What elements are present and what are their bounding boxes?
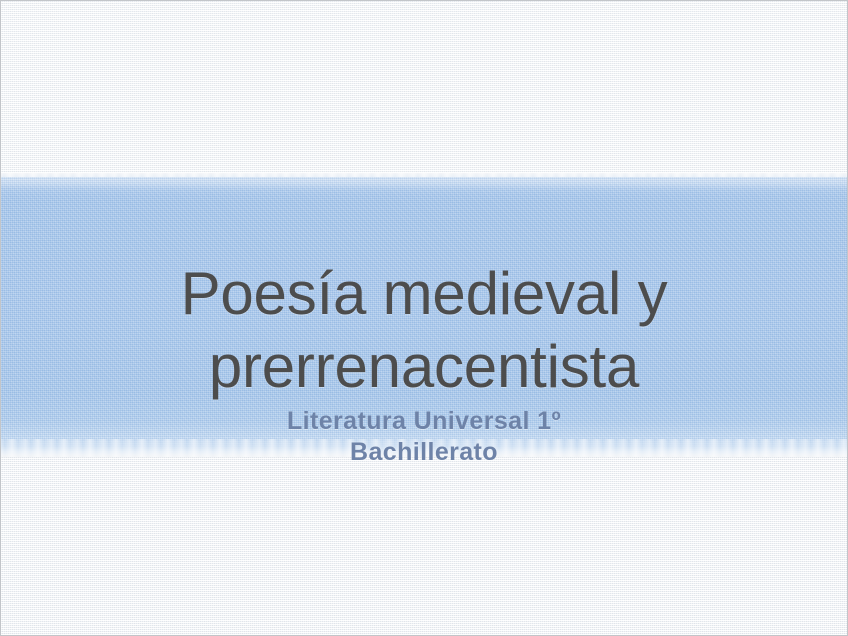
decorative-blue-band: [0, 177, 848, 454]
presentation-slide: Poesía medieval y prerrenacentista Liter…: [0, 0, 848, 636]
